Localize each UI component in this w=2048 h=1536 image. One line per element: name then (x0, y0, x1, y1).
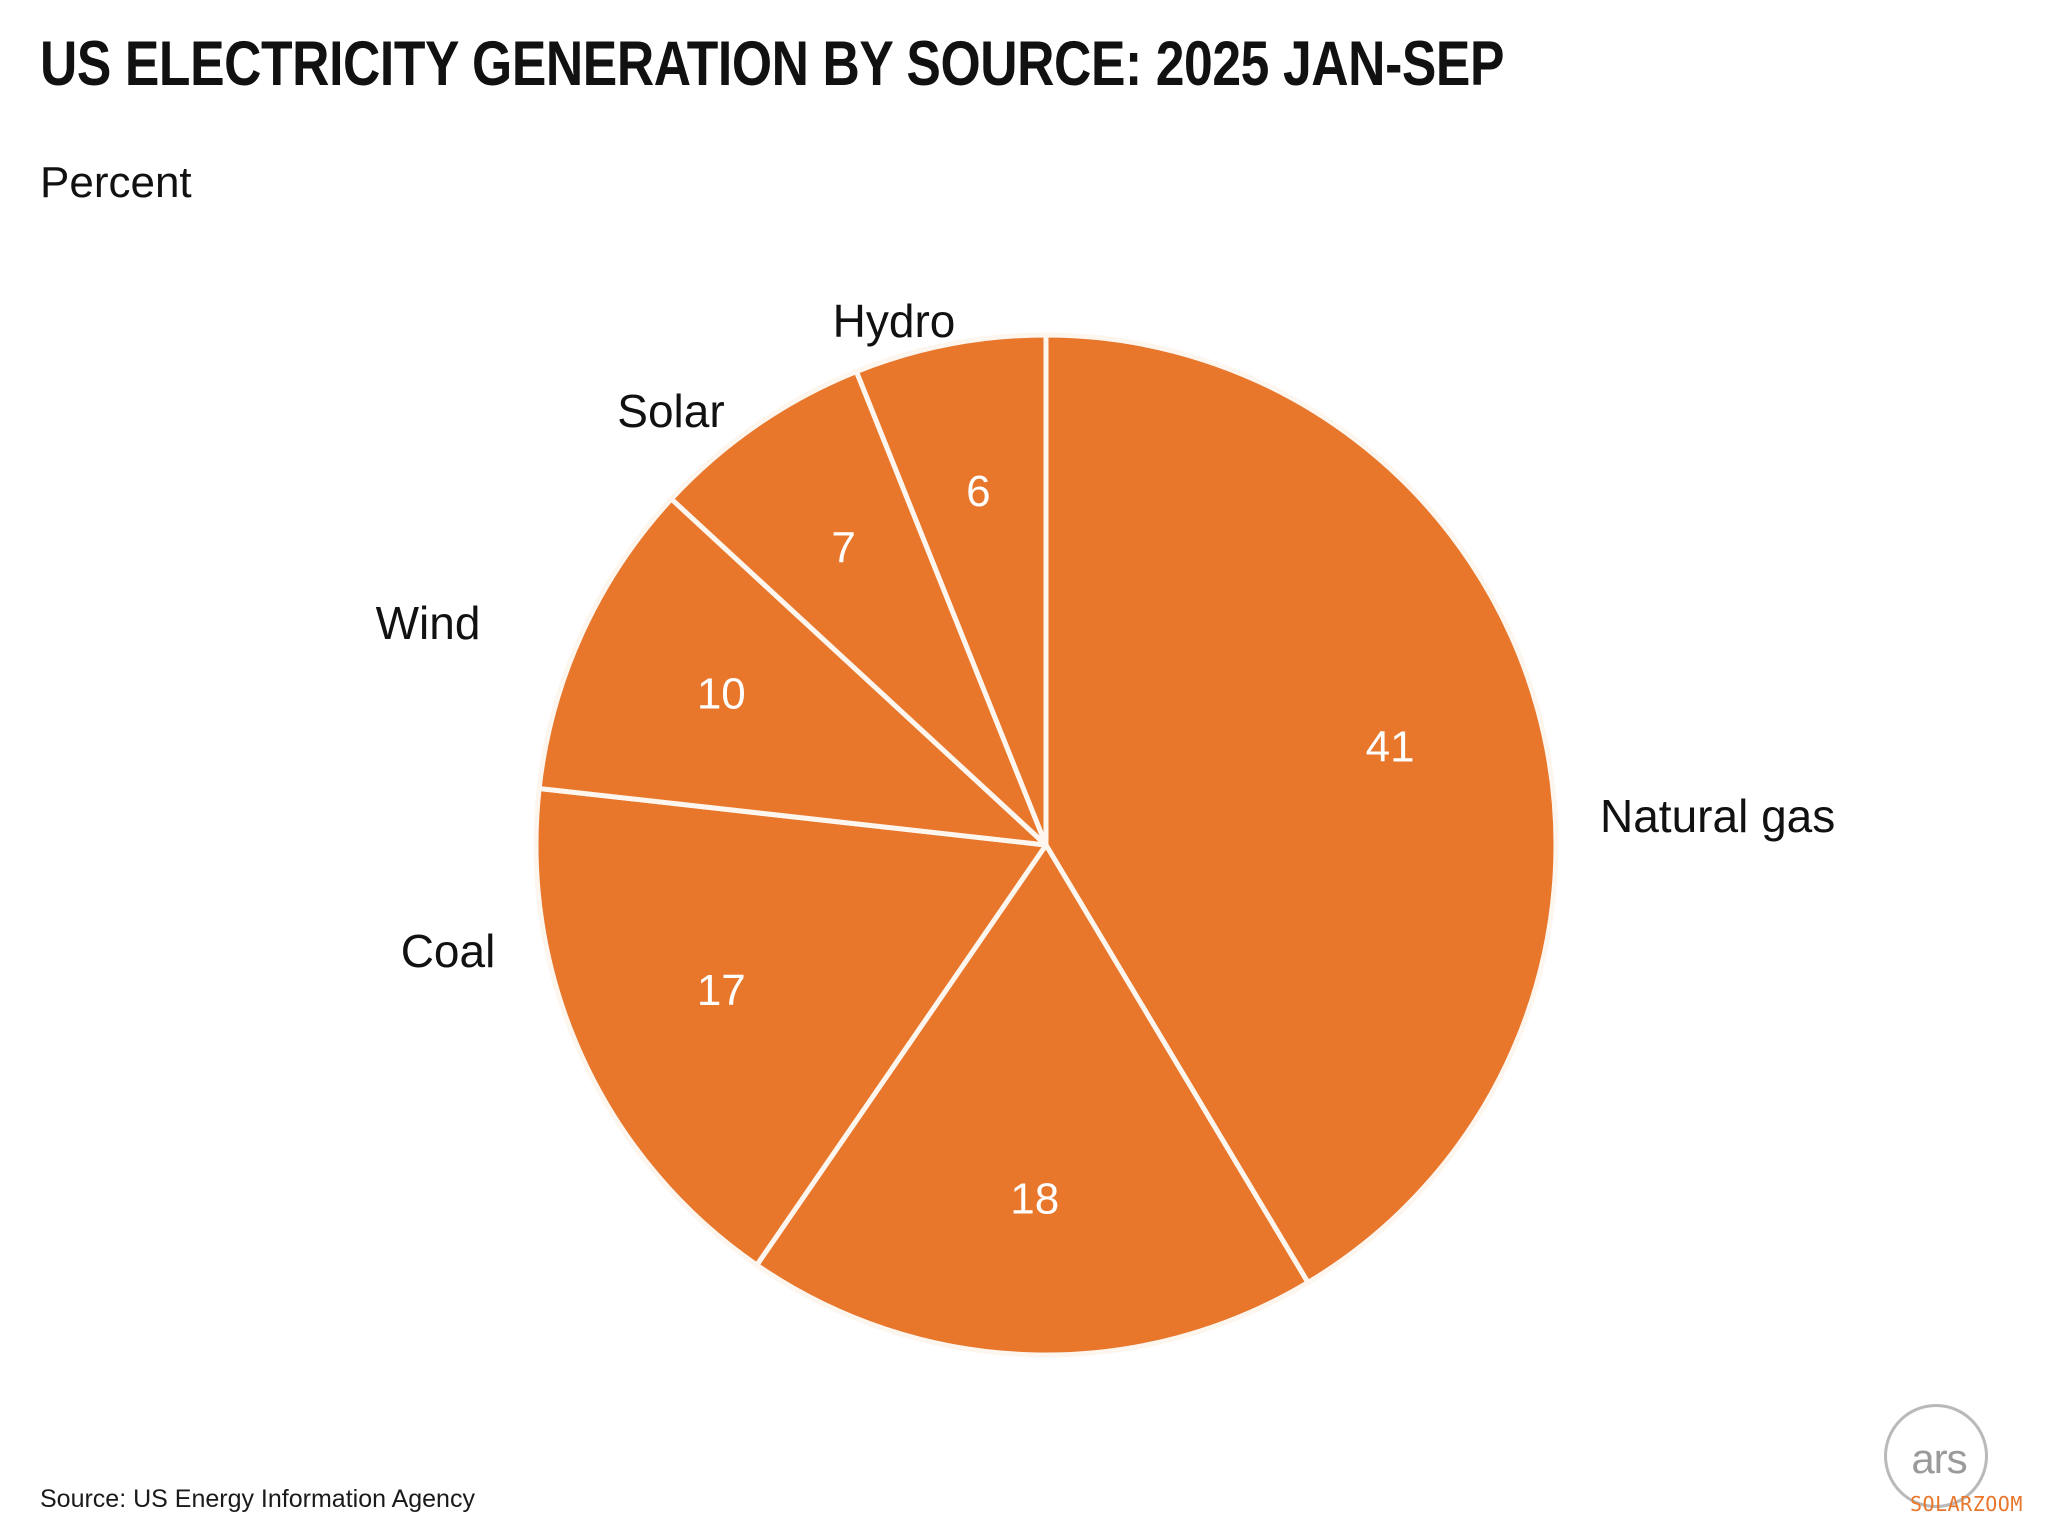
pie-slice-value: 41 (1366, 723, 1415, 772)
pie-chart-svg: 4118171076 Natural gasNuclearCoalWindSol… (0, 210, 2048, 1400)
pie-slice-label: Hydro (833, 295, 956, 347)
chart-page: US ELECTRICITY GENERATION BY SOURCE: 202… (0, 0, 2048, 1536)
chart-subtitle: Percent (40, 158, 192, 208)
pie-slice-label: Wind (376, 597, 481, 649)
watermark-label: SOLARZOOM (1910, 1492, 2023, 1516)
pie-slice-value: 6 (966, 467, 990, 516)
pie-slice-label: Solar (617, 385, 724, 437)
ars-technica-logo: ars SOLARZOOM (1862, 1400, 2022, 1528)
source-note: Source: US Energy Information Agency (40, 1485, 475, 1514)
pie-slice-label: Coal (401, 925, 496, 977)
pie-chart-plot-area: 4118171076 Natural gasNuclearCoalWindSol… (0, 210, 2048, 1400)
pie-slice-value: 17 (697, 966, 746, 1015)
pie-slice-label: Natural gas (1600, 790, 1835, 842)
pie-slice-value: 10 (697, 669, 746, 718)
pie-slice-value: 7 (831, 524, 855, 573)
page-title: US ELECTRICITY GENERATION BY SOURCE: 202… (40, 28, 1504, 100)
pie-slice-value: 18 (1010, 1174, 1059, 1223)
